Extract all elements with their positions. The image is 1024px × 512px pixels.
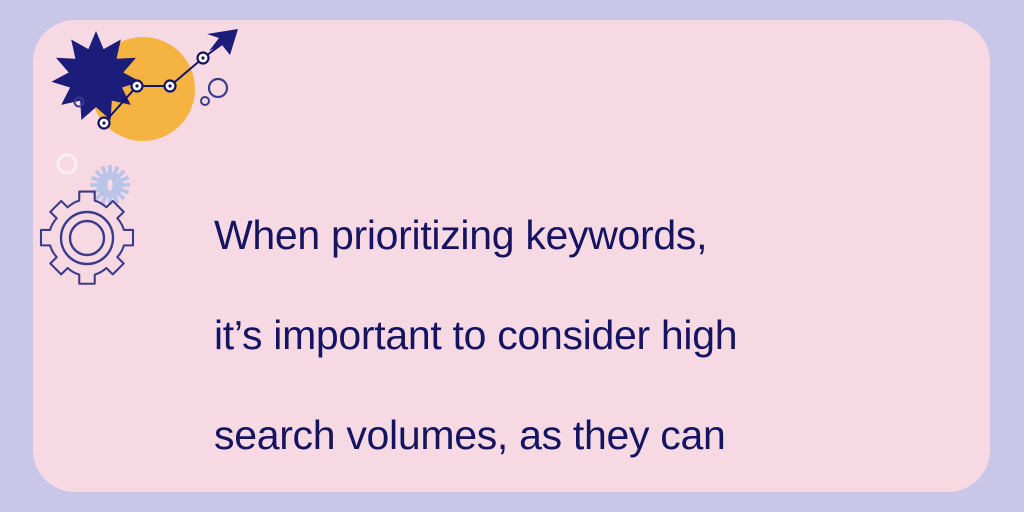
large-gear-icon bbox=[41, 192, 133, 284]
quote-line-2: it’s important to consider high bbox=[214, 310, 894, 360]
ring-large-right-icon bbox=[209, 79, 227, 97]
orange-circle-shape bbox=[91, 37, 195, 141]
quote-card: When prioritizing keywords, it’s importa… bbox=[33, 20, 990, 492]
quote-text: When prioritizing keywords, it’s importa… bbox=[214, 160, 894, 492]
ring-small-left-icon bbox=[75, 98, 84, 107]
growth-line-path bbox=[104, 39, 229, 123]
ring-pale-white-icon bbox=[58, 155, 76, 173]
navy-burst-star-shape bbox=[51, 31, 140, 120]
poster-canvas: When prioritizing keywords, it’s importa… bbox=[0, 0, 1024, 512]
growth-arrow-head-icon bbox=[207, 29, 238, 55]
quote-line-1: When prioritizing keywords, bbox=[214, 210, 894, 260]
chart-node-markers bbox=[99, 53, 209, 129]
ring-tiny-right-icon bbox=[201, 97, 209, 105]
quote-line-3: search volumes, as they can bbox=[214, 410, 894, 460]
small-gear-icon bbox=[90, 165, 130, 205]
